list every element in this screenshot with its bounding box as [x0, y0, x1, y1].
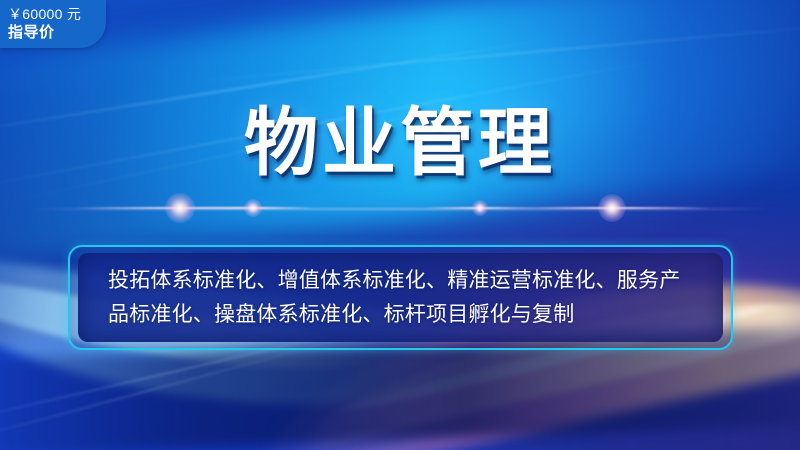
description-text: 投拓体系标准化、增值体系标准化、精准运营标准化、服务产品标准化、操盘体系标准化、…	[108, 264, 693, 332]
price-badge-label: 指导价	[8, 23, 106, 42]
flare-2-core	[244, 199, 262, 217]
price-badge: ￥60000 元 指导价	[0, 0, 106, 48]
description-panel-fill: 投拓体系标准化、增值体系标准化、精准运营标准化、服务产品标准化、操盘体系标准化、…	[78, 253, 723, 342]
price-badge-amount: ￥60000 元	[8, 6, 106, 23]
page-title: 物业管理	[0, 100, 800, 186]
flare-3-core	[472, 200, 488, 216]
poster-canvas: ￥60000 元 指导价 物业管理 投拓体系标准化、增值体系标准化、精准运营标准…	[0, 0, 800, 450]
description-panel: 投拓体系标准化、增值体系标准化、精准运营标准化、服务产品标准化、操盘体系标准化、…	[68, 245, 733, 350]
flare-4-core	[598, 194, 626, 222]
